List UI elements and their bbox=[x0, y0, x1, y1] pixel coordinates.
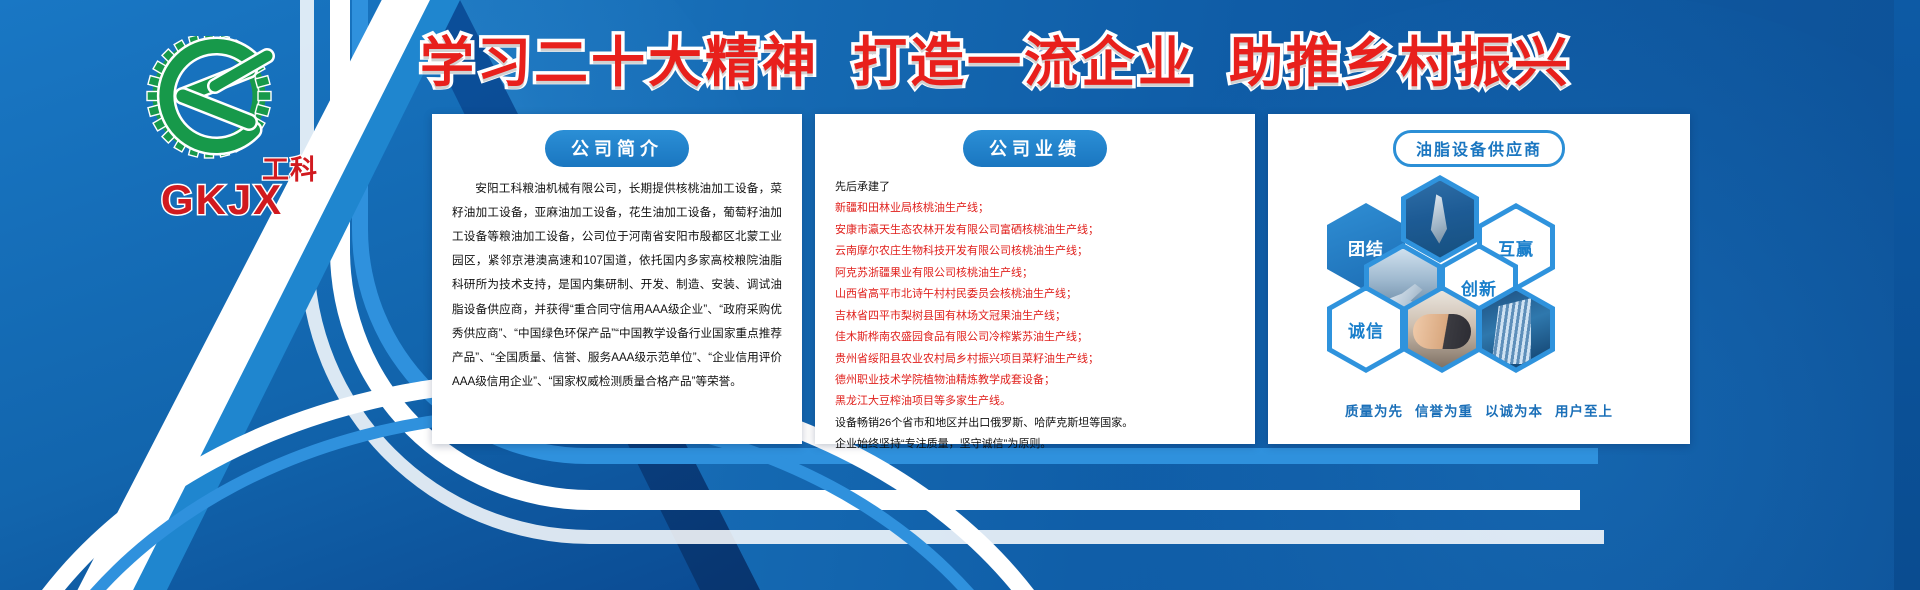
logo-name-en: GKJX bbox=[122, 176, 322, 224]
panel-company-achievements: 公司业绩 先后承建了 新疆和田林业局核桃油生产线； 安康市瀛天生态农林开发有限公… bbox=[815, 114, 1255, 444]
ship-photo-icon bbox=[1406, 181, 1474, 258]
poster-canvas: 工科 GKJX 学习二十大精神打造一流企业助推乡村振兴 公司简介 安阳工科粮油机… bbox=[0, 0, 1920, 590]
panel-intro-title: 公司简介 bbox=[545, 130, 689, 167]
achievement-item: 佳木斯桦南农盛园食品有限公司冷榨紫苏油生产线； bbox=[835, 327, 1235, 348]
achievement-item: 山西省高平市北诗午村村民委员会核桃油生产线； bbox=[835, 284, 1235, 305]
headline-part-1: 学习二十大精神 bbox=[420, 33, 819, 93]
slogan-part-3: 以诚为本 bbox=[1485, 404, 1543, 419]
company-logo: 工科 GKJX bbox=[112, 36, 312, 206]
panel-supplier-title: 油脂设备供应商 bbox=[1393, 130, 1565, 167]
achievement-item: 吉林省四平市梨树县国有林场文冠果油生产线； bbox=[835, 306, 1235, 327]
achievements-footer-1: 设备畅销26个省市和地区并出口俄罗斯、哈萨克斯坦等国家。 bbox=[835, 413, 1235, 434]
building-photo-icon bbox=[1482, 291, 1550, 368]
achievement-item: 阿克苏浙疆果业有限公司核桃油生产线； bbox=[835, 263, 1235, 284]
achievements-footer-2: 企业始终坚持“专注质量，坚守诚信”为原则。 bbox=[835, 434, 1235, 455]
achievement-item: 黑龙江大豆榨油项目等多家生产线。 bbox=[835, 391, 1235, 412]
hex-label: 诚信 bbox=[1348, 317, 1384, 342]
achievement-item: 新疆和田林业局核桃油生产线； bbox=[835, 198, 1235, 219]
handshake-photo-icon bbox=[1408, 291, 1476, 368]
achievements-intro: 先后承建了 bbox=[835, 177, 1235, 198]
achievement-item: 安康市瀛天生态农林开发有限公司富硒核桃油生产线； bbox=[835, 220, 1235, 241]
headline-part-3: 助推乡村振兴 bbox=[1229, 33, 1571, 93]
hex-label: 团结 bbox=[1348, 235, 1384, 260]
content-panels: 公司简介 安阳工科粮油机械有限公司，长期提供核桃油加工设备，菜籽油加工设备，亚麻… bbox=[432, 114, 1894, 444]
achievement-item: 贵州省绥阳县农业农村局乡村振兴项目菜籽油生产线； bbox=[835, 349, 1235, 370]
hex-cluster: 团结 互赢 创新 bbox=[1309, 177, 1649, 392]
headline-part-2: 打造一流企业 bbox=[853, 33, 1195, 93]
supplier-slogan: 质量为先信誉为重以诚为本用户至上 bbox=[1288, 400, 1670, 420]
slogan-part-4: 用户至上 bbox=[1555, 404, 1613, 419]
hex-label: 创新 bbox=[1461, 275, 1497, 300]
hex-label: 互赢 bbox=[1498, 235, 1534, 260]
poster-headline: 学习二十大精神打造一流企业助推乡村振兴 bbox=[420, 18, 1510, 97]
achievement-item: 云南摩尔农庄生物科技开发有限公司核桃油生产线； bbox=[835, 241, 1235, 262]
hex-inner: 诚信 bbox=[1332, 291, 1400, 368]
gear-k-logo-icon bbox=[134, 36, 284, 160]
achievement-item: 德州职业技术学院植物油精炼教学成套设备； bbox=[835, 370, 1235, 391]
panel-achievements-title: 公司业绩 bbox=[963, 130, 1107, 167]
right-edge-strip bbox=[1894, 0, 1920, 590]
panel-company-intro: 公司简介 安阳工科粮油机械有限公司，长期提供核桃油加工设备，菜籽油加工设备，亚麻… bbox=[432, 114, 802, 444]
panel-supplier: 油脂设备供应商 团结 互赢 创新 bbox=[1268, 114, 1690, 444]
panel-intro-body: 安阳工科粮油机械有限公司，长期提供核桃油加工设备，菜籽油加工设备，亚麻油加工设备… bbox=[452, 177, 782, 394]
slogan-part-2: 信誉为重 bbox=[1415, 404, 1473, 419]
slogan-part-1: 质量为先 bbox=[1345, 404, 1403, 419]
